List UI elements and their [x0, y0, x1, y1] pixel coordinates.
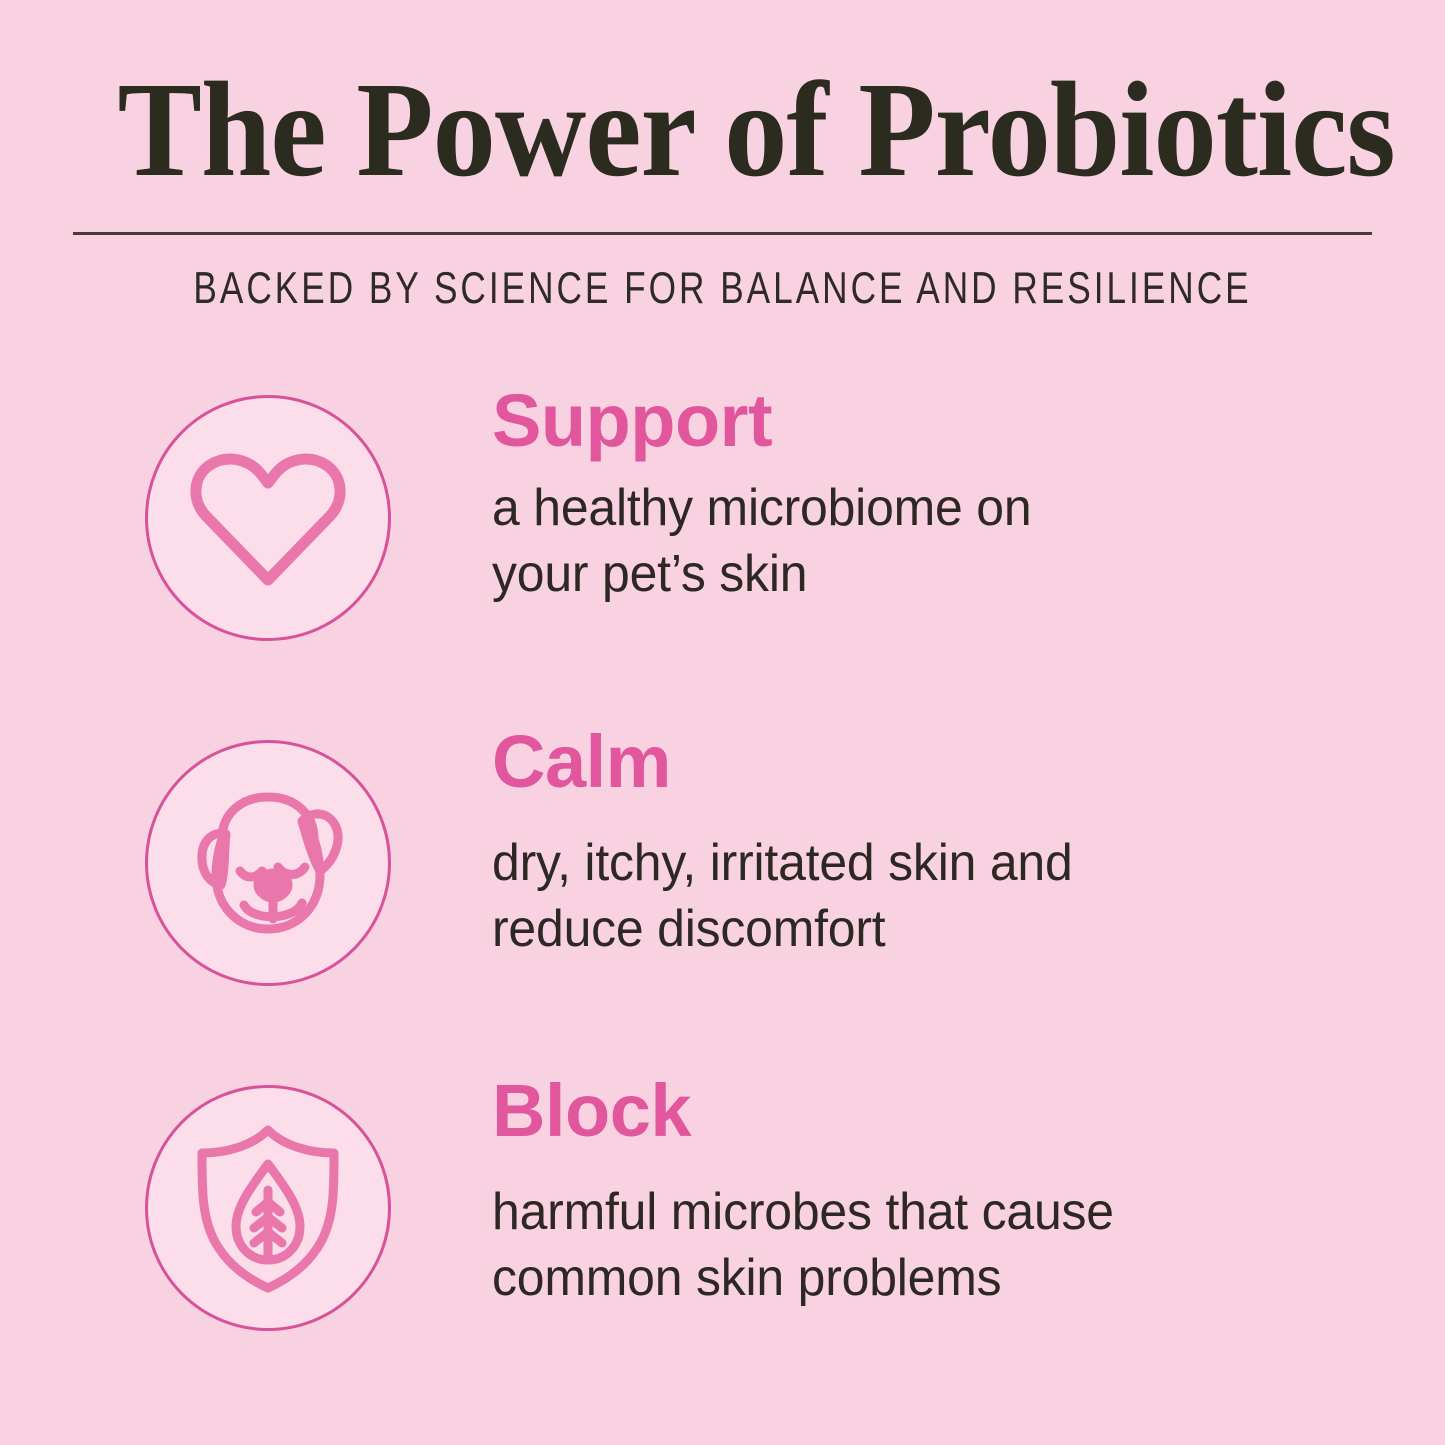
- benefit-item-calm: Calm dry, itchy, irritated skin and redu…: [0, 730, 1445, 1075]
- benefit-text-block: Block harmful microbes that cause common…: [492, 1073, 1392, 1311]
- header-divider: [73, 232, 1372, 235]
- benefit-heading: Calm: [492, 724, 1392, 800]
- benefit-body: a healthy microbiome on your pet’s skin: [492, 475, 1356, 607]
- benefit-item-block: Block harmful microbes that cause common…: [0, 1075, 1445, 1420]
- benefit-item-support: Support a healthy microbiome on your pet…: [0, 385, 1445, 730]
- page-title: The Power of Probiotics: [118, 62, 1328, 198]
- dog-face-icon: [178, 779, 358, 947]
- header: The Power of Probiotics BACKED BY SCIENC…: [0, 0, 1445, 330]
- benefit-body: dry, itchy, irritated skin and reduce di…: [492, 830, 1356, 962]
- benefit-text-support: Support a healthy microbiome on your pet…: [492, 383, 1392, 607]
- shield-leaf-icon-badge: [145, 1085, 391, 1331]
- probiotics-infographic: The Power of Probiotics BACKED BY SCIENC…: [0, 0, 1445, 1445]
- benefit-body: harmful microbes that cause common skin …: [492, 1179, 1356, 1311]
- benefit-heading: Support: [492, 383, 1392, 459]
- heart-icon: [183, 438, 353, 598]
- benefits-list: Support a healthy microbiome on your pet…: [0, 385, 1445, 1420]
- page-subtitle: BACKED BY SCIENCE FOR BALANCE AND RESILI…: [150, 264, 1295, 314]
- benefit-text-calm: Calm dry, itchy, irritated skin and redu…: [492, 724, 1392, 962]
- dog-face-icon-badge: [145, 740, 391, 986]
- benefit-heading: Block: [492, 1073, 1392, 1149]
- shield-leaf-icon: [188, 1120, 348, 1296]
- heart-icon-badge: [145, 395, 391, 641]
